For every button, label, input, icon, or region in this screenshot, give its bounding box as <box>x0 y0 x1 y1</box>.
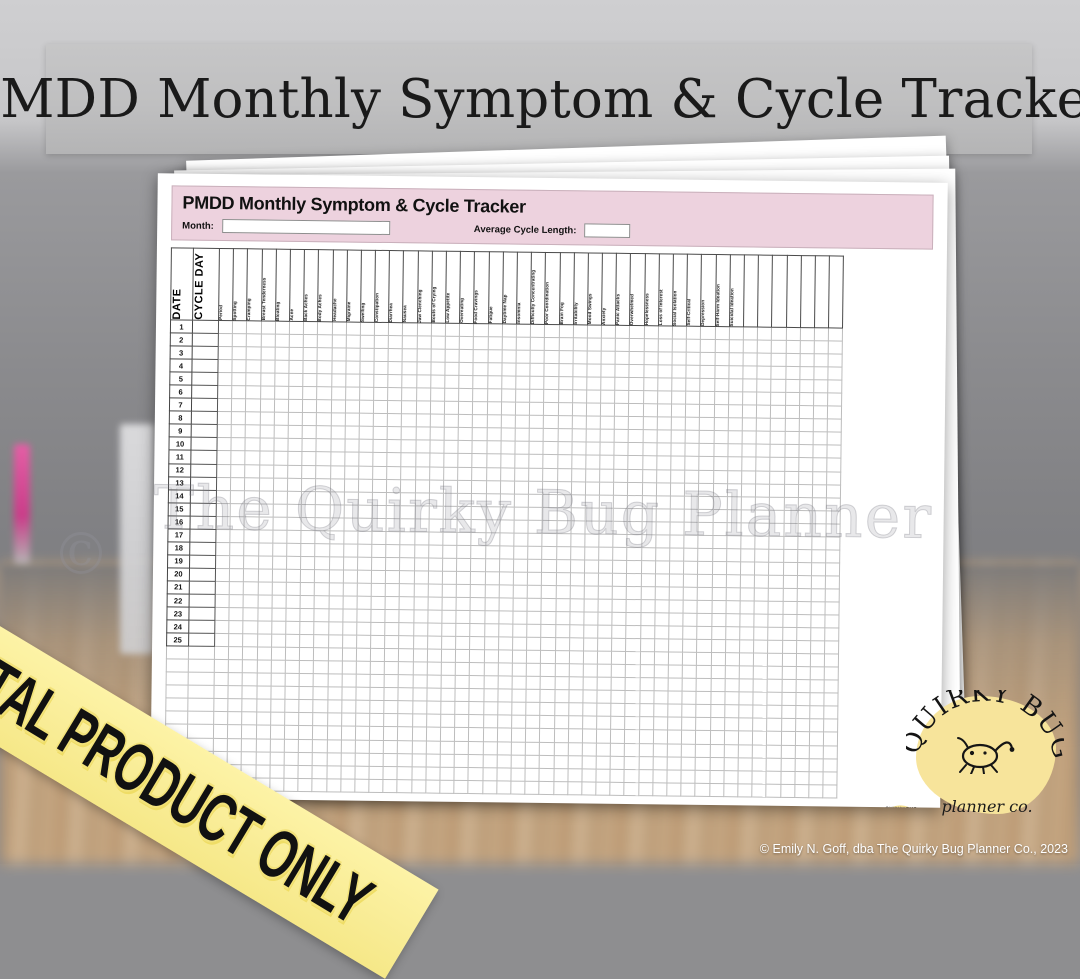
symptom-cell[interactable] <box>569 625 583 638</box>
symptom-cell[interactable] <box>585 482 599 495</box>
symptom-cell[interactable] <box>530 363 544 376</box>
symptom-cell[interactable] <box>739 705 753 718</box>
symptom-cell[interactable] <box>587 325 601 338</box>
symptom-cell[interactable] <box>783 575 797 588</box>
symptom-cell[interactable] <box>341 753 355 766</box>
symptom-cell[interactable] <box>401 453 415 466</box>
symptom-cell[interactable] <box>487 389 501 402</box>
symptom-cell[interactable] <box>784 497 798 510</box>
symptom-cell[interactable] <box>388 362 402 375</box>
symptom-cell[interactable] <box>360 348 374 361</box>
symptom-cell[interactable] <box>428 558 442 571</box>
symptom-cell[interactable] <box>469 689 483 702</box>
symptom-cell[interactable] <box>713 444 727 457</box>
symptom-cell[interactable] <box>770 445 784 458</box>
symptom-cell[interactable] <box>441 689 455 702</box>
symptom-cell[interactable] <box>544 377 558 390</box>
symptom-cell[interactable] <box>497 741 511 754</box>
symptom-cell[interactable] <box>568 768 582 781</box>
symptom-cell[interactable] <box>514 533 528 546</box>
symptom-cell[interactable] <box>356 674 370 687</box>
symptom-cell[interactable] <box>515 455 529 468</box>
symptom-cell[interactable] <box>781 758 795 771</box>
symptom-cell[interactable] <box>260 386 274 399</box>
symptom-cell[interactable] <box>755 510 769 523</box>
symptom-cell[interactable] <box>797 615 811 628</box>
symptom-cell[interactable] <box>387 492 401 505</box>
symptom-cell[interactable] <box>303 335 317 348</box>
symptom-cell[interactable] <box>515 415 529 428</box>
symptom-cell[interactable] <box>626 652 640 665</box>
symptom-cell[interactable] <box>825 615 839 628</box>
symptom-cell[interactable] <box>372 531 386 544</box>
symptom-cell[interactable] <box>670 522 684 535</box>
symptom-cell[interactable] <box>500 494 514 507</box>
symptom-cell[interactable] <box>402 414 416 427</box>
symptom-cell[interactable] <box>501 428 515 441</box>
symptom-cell[interactable] <box>823 785 837 798</box>
symptom-cell[interactable] <box>330 465 344 478</box>
symptom-cell[interactable] <box>658 339 672 352</box>
symptom-cell[interactable] <box>583 651 597 664</box>
symptom-cell[interactable] <box>188 712 214 725</box>
symptom-cell[interactable] <box>525 768 539 781</box>
symptom-cell[interactable] <box>370 701 384 714</box>
symptom-cell[interactable] <box>682 718 696 731</box>
symptom-tracker-grid[interactable]: DATECYCLE DAYPeriodSpottingCrampingBreas… <box>164 247 933 799</box>
symptom-cell[interactable] <box>782 654 796 667</box>
symptom-cell[interactable] <box>611 730 625 743</box>
symptom-cell[interactable] <box>472 467 486 480</box>
symptom-cell[interactable] <box>454 754 468 767</box>
symptom-cell[interactable] <box>571 534 585 547</box>
symptom-cell[interactable] <box>725 640 739 653</box>
symptom-cell[interactable] <box>826 524 840 537</box>
cycle-day-cell[interactable] <box>191 398 217 411</box>
symptom-cell[interactable] <box>785 393 799 406</box>
symptom-cell[interactable] <box>314 596 328 609</box>
cycle-day-cell[interactable] <box>191 411 217 424</box>
symptom-cell[interactable] <box>288 400 302 413</box>
symptom-cell[interactable] <box>625 756 639 769</box>
symptom-cell[interactable] <box>288 439 302 452</box>
symptom-cell[interactable] <box>587 364 601 377</box>
symptom-cell[interactable] <box>440 741 454 754</box>
symptom-cell[interactable] <box>426 727 440 740</box>
symptom-cell[interactable] <box>459 363 473 376</box>
symptom-cell[interactable] <box>372 492 386 505</box>
symptom-cell[interactable] <box>613 573 627 586</box>
symptom-cell[interactable] <box>615 404 629 417</box>
symptom-cell[interactable] <box>667 783 681 796</box>
symptom-cell[interactable] <box>327 752 341 765</box>
symptom-cell[interactable] <box>683 652 697 665</box>
symptom-cell[interactable] <box>486 480 500 493</box>
symptom-cell[interactable] <box>317 348 331 361</box>
symptom-cell[interactable] <box>543 468 557 481</box>
symptom-cell[interactable] <box>398 740 412 753</box>
symptom-cell[interactable] <box>230 568 244 581</box>
symptom-cell[interactable] <box>488 337 502 350</box>
symptom-cell[interactable] <box>540 677 554 690</box>
symptom-cell[interactable] <box>330 491 344 504</box>
symptom-cell[interactable] <box>243 621 257 634</box>
symptom-cell[interactable] <box>417 336 431 349</box>
symptom-cell[interactable] <box>216 503 230 516</box>
symptom-cell[interactable] <box>657 443 671 456</box>
symptom-cell[interactable] <box>769 510 783 523</box>
symptom-cell[interactable] <box>541 598 555 611</box>
symptom-cell[interactable] <box>828 367 842 380</box>
symptom-cell[interactable] <box>302 478 316 491</box>
symptom-cell[interactable] <box>356 701 370 714</box>
symptom-cell[interactable] <box>284 765 298 778</box>
symptom-cell[interactable] <box>215 634 229 647</box>
symptom-cell[interactable] <box>359 387 373 400</box>
symptom-cell[interactable] <box>300 595 314 608</box>
symptom-cell[interactable] <box>331 387 345 400</box>
symptom-cell[interactable] <box>724 770 738 783</box>
symptom-cell[interactable] <box>669 561 683 574</box>
symptom-cell[interactable] <box>611 691 625 704</box>
symptom-cell[interactable] <box>701 326 715 339</box>
symptom-cell[interactable] <box>600 469 614 482</box>
symptom-cell[interactable] <box>428 597 442 610</box>
symptom-cell[interactable] <box>628 482 642 495</box>
symptom-cell[interactable] <box>556 520 570 533</box>
symptom-cell[interactable] <box>413 662 427 675</box>
symptom-cell[interactable] <box>272 595 286 608</box>
symptom-cell[interactable] <box>413 688 427 701</box>
symptom-cell[interactable] <box>770 432 784 445</box>
symptom-cell[interactable] <box>299 726 313 739</box>
symptom-cell[interactable] <box>217 451 231 464</box>
symptom-cell[interactable] <box>629 352 643 365</box>
symptom-cell[interactable] <box>639 730 653 743</box>
symptom-cell[interactable] <box>369 740 383 753</box>
symptom-cell[interactable] <box>553 781 567 794</box>
symptom-cell[interactable] <box>497 728 511 741</box>
symptom-cell[interactable] <box>502 337 516 350</box>
symptom-cell[interactable] <box>541 611 555 624</box>
symptom-cell[interactable] <box>270 765 284 778</box>
symptom-cell[interactable] <box>809 745 823 758</box>
symptom-cell[interactable] <box>681 783 695 796</box>
symptom-cell[interactable] <box>643 430 657 443</box>
symptom-cell[interactable] <box>795 758 809 771</box>
symptom-cell[interactable] <box>757 366 771 379</box>
symptom-cell[interactable] <box>798 497 812 510</box>
symptom-cell[interactable] <box>584 625 598 638</box>
symptom-cell[interactable] <box>272 569 286 582</box>
symptom-cell[interactable] <box>261 347 275 360</box>
symptom-cell[interactable] <box>698 587 712 600</box>
symptom-cell[interactable] <box>399 662 413 675</box>
symptom-cell[interactable] <box>316 426 330 439</box>
symptom-cell[interactable] <box>558 416 572 429</box>
symptom-cell[interactable] <box>341 739 355 752</box>
symptom-cell[interactable] <box>554 703 568 716</box>
symptom-cell[interactable] <box>567 781 581 794</box>
symptom-cell[interactable] <box>397 766 411 779</box>
symptom-cell[interactable] <box>715 353 729 366</box>
symptom-cell[interactable] <box>387 440 401 453</box>
symptom-cell[interactable] <box>599 547 613 560</box>
symptom-cell[interactable] <box>540 703 554 716</box>
symptom-cell[interactable] <box>796 680 810 693</box>
symptom-cell[interactable] <box>614 469 628 482</box>
symptom-cell[interactable] <box>555 625 569 638</box>
symptom-cell[interactable] <box>671 470 685 483</box>
symptom-cell[interactable] <box>343 557 357 570</box>
symptom-cell[interactable] <box>431 349 445 362</box>
symptom-cell[interactable] <box>443 493 457 506</box>
symptom-cell[interactable] <box>487 363 501 376</box>
symptom-cell[interactable] <box>314 622 328 635</box>
symptom-cell[interactable] <box>770 497 784 510</box>
symptom-cell[interactable] <box>275 347 289 360</box>
symptom-cell[interactable] <box>715 340 729 353</box>
symptom-cell[interactable] <box>568 742 582 755</box>
symptom-cell[interactable] <box>782 614 796 627</box>
symptom-cell[interactable] <box>754 640 768 653</box>
symptom-cell[interactable] <box>615 364 629 377</box>
symptom-cell[interactable] <box>798 471 812 484</box>
symptom-cell[interactable] <box>800 354 814 367</box>
symptom-cell[interactable] <box>355 714 369 727</box>
symptom-cell[interactable] <box>342 674 356 687</box>
symptom-cell[interactable] <box>712 574 726 587</box>
symptom-cell[interactable] <box>529 442 543 455</box>
symptom-cell[interactable] <box>613 560 627 573</box>
symptom-cell[interactable] <box>726 588 740 601</box>
symptom-cell[interactable] <box>300 609 314 622</box>
symptom-cell[interactable] <box>771 353 785 366</box>
symptom-cell[interactable] <box>644 352 658 365</box>
symptom-cell[interactable] <box>570 573 584 586</box>
symptom-cell[interactable] <box>596 730 610 743</box>
symptom-cell[interactable] <box>357 570 371 583</box>
symptom-cell[interactable] <box>228 725 242 738</box>
symptom-cell[interactable] <box>471 545 485 558</box>
symptom-cell[interactable] <box>516 337 530 350</box>
symptom-cell[interactable] <box>557 494 571 507</box>
symptom-cell[interactable] <box>714 366 728 379</box>
symptom-cell[interactable] <box>726 601 740 614</box>
symptom-cell[interactable] <box>642 495 656 508</box>
symptom-cell[interactable] <box>656 495 670 508</box>
symptom-cell[interactable] <box>232 334 246 347</box>
symptom-cell[interactable] <box>274 386 288 399</box>
symptom-cell[interactable] <box>229 621 243 634</box>
symptom-cell[interactable] <box>727 470 741 483</box>
symptom-cell[interactable] <box>767 732 781 745</box>
symptom-cell[interactable] <box>327 713 341 726</box>
symptom-cell[interactable] <box>757 405 771 418</box>
symptom-cell[interactable] <box>271 686 285 699</box>
symptom-cell[interactable] <box>755 549 769 562</box>
symptom-cell[interactable] <box>656 482 670 495</box>
symptom-cell[interactable] <box>557 468 571 481</box>
symptom-cell[interactable] <box>488 350 502 363</box>
symptom-cell[interactable] <box>371 596 385 609</box>
cycle-day-cell[interactable] <box>190 555 216 568</box>
symptom-cell[interactable] <box>710 757 724 770</box>
symptom-cell[interactable] <box>455 663 469 676</box>
column-header-blank-5[interactable] <box>800 256 815 328</box>
symptom-cell[interactable] <box>527 572 541 585</box>
symptom-cell[interactable] <box>767 692 781 705</box>
symptom-cell[interactable] <box>217 412 231 425</box>
symptom-cell[interactable] <box>304 321 318 334</box>
symptom-cell[interactable] <box>670 535 684 548</box>
symptom-cell[interactable] <box>683 639 697 652</box>
symptom-cell[interactable] <box>440 728 454 741</box>
symptom-cell[interactable] <box>387 466 401 479</box>
symptom-cell[interactable] <box>540 729 554 742</box>
symptom-cell[interactable] <box>356 661 370 674</box>
cycle-day-cell[interactable] <box>192 346 218 359</box>
symptom-cell[interactable] <box>797 536 811 549</box>
symptom-cell[interactable] <box>724 783 738 796</box>
symptom-cell[interactable] <box>511 755 525 768</box>
symptom-cell[interactable] <box>754 627 768 640</box>
symptom-cell[interactable] <box>615 351 629 364</box>
symptom-cell[interactable] <box>329 531 343 544</box>
symptom-cell[interactable] <box>658 378 672 391</box>
symptom-cell[interactable] <box>217 425 231 438</box>
symptom-cell[interactable] <box>542 520 556 533</box>
symptom-cell[interactable] <box>287 478 301 491</box>
symptom-cell[interactable] <box>572 377 586 390</box>
symptom-cell[interactable] <box>727 496 741 509</box>
symptom-cell[interactable] <box>556 572 570 585</box>
symptom-cell[interactable] <box>639 743 653 756</box>
symptom-cell[interactable] <box>626 599 640 612</box>
symptom-cell[interactable] <box>416 388 430 401</box>
symptom-cell[interactable] <box>486 493 500 506</box>
symptom-cell[interactable] <box>572 429 586 442</box>
symptom-cell[interactable] <box>397 779 411 792</box>
symptom-cell[interactable] <box>653 769 667 782</box>
symptom-cell[interactable] <box>769 549 783 562</box>
symptom-cell[interactable] <box>328 609 342 622</box>
symptom-cell[interactable] <box>216 555 230 568</box>
symptom-cell[interactable] <box>627 521 641 534</box>
symptom-cell[interactable] <box>289 347 303 360</box>
symptom-cell[interactable] <box>243 608 257 621</box>
symptom-cell[interactable] <box>399 623 413 636</box>
symptom-cell[interactable] <box>232 360 246 373</box>
symptom-cell[interactable] <box>783 523 797 536</box>
symptom-cell[interactable] <box>469 715 483 728</box>
symptom-cell[interactable] <box>696 718 710 731</box>
symptom-cell[interactable] <box>473 376 487 389</box>
symptom-cell[interactable] <box>430 427 444 440</box>
symptom-cell[interactable] <box>216 516 230 529</box>
symptom-cell[interactable] <box>313 713 327 726</box>
symptom-cell[interactable] <box>555 638 569 651</box>
symptom-cell[interactable] <box>412 714 426 727</box>
symptom-cell[interactable] <box>600 456 614 469</box>
symptom-cell[interactable] <box>569 664 583 677</box>
symptom-cell[interactable] <box>315 556 329 569</box>
symptom-cell[interactable] <box>511 768 525 781</box>
symptom-cell[interactable] <box>273 491 287 504</box>
symptom-cell[interactable] <box>528 494 542 507</box>
symptom-cell[interactable] <box>699 483 713 496</box>
symptom-cell[interactable] <box>242 673 256 686</box>
symptom-cell[interactable] <box>545 337 559 350</box>
symptom-cell[interactable] <box>728 392 742 405</box>
symptom-cell[interactable] <box>738 770 752 783</box>
symptom-cell[interactable] <box>513 598 527 611</box>
symptom-cell[interactable] <box>244 569 258 582</box>
symptom-cell[interactable] <box>412 727 426 740</box>
symptom-cell[interactable] <box>502 363 516 376</box>
symptom-cell[interactable] <box>343 583 357 596</box>
symptom-cell[interactable] <box>274 452 288 465</box>
symptom-cell[interactable] <box>443 480 457 493</box>
symptom-cell[interactable] <box>782 680 796 693</box>
symptom-cell[interactable] <box>628 443 642 456</box>
symptom-cell[interactable] <box>826 484 840 497</box>
symptom-cell[interactable] <box>713 522 727 535</box>
symptom-cell[interactable] <box>414 532 428 545</box>
symptom-cell[interactable] <box>724 718 738 731</box>
symptom-cell[interactable] <box>385 610 399 623</box>
symptom-cell[interactable] <box>796 628 810 641</box>
symptom-cell[interactable] <box>638 782 652 795</box>
symptom-cell[interactable] <box>669 587 683 600</box>
symptom-cell[interactable] <box>501 389 515 402</box>
symptom-cell[interactable] <box>327 687 341 700</box>
symptom-cell[interactable] <box>314 635 328 648</box>
symptom-cell[interactable] <box>743 327 757 340</box>
symptom-cell[interactable] <box>470 624 484 637</box>
symptom-cell[interactable] <box>443 532 457 545</box>
symptom-cell[interactable] <box>516 350 530 363</box>
symptom-cell[interactable] <box>811 589 825 602</box>
symptom-cell[interactable] <box>416 414 430 427</box>
symptom-cell[interactable] <box>445 323 459 336</box>
symptom-cell[interactable] <box>529 455 543 468</box>
symptom-cell[interactable] <box>656 535 670 548</box>
symptom-cell[interactable] <box>657 404 671 417</box>
symptom-cell[interactable] <box>402 362 416 375</box>
symptom-cell[interactable] <box>329 557 343 570</box>
symptom-cell[interactable] <box>558 364 572 377</box>
symptom-cell[interactable] <box>402 375 416 388</box>
symptom-cell[interactable] <box>753 731 767 744</box>
symptom-cell[interactable] <box>824 667 838 680</box>
symptom-cell[interactable] <box>487 402 501 415</box>
symptom-cell[interactable] <box>754 614 768 627</box>
symptom-cell[interactable] <box>573 325 587 338</box>
symptom-cell[interactable] <box>611 704 625 717</box>
symptom-cell[interactable] <box>554 729 568 742</box>
symptom-cell[interactable] <box>573 364 587 377</box>
symptom-cell[interactable] <box>555 677 569 690</box>
symptom-cell[interactable] <box>711 627 725 640</box>
symptom-cell[interactable] <box>625 743 639 756</box>
symptom-cell[interactable] <box>374 348 388 361</box>
symptom-cell[interactable] <box>610 769 624 782</box>
symptom-cell[interactable] <box>528 559 542 572</box>
symptom-cell[interactable] <box>657 456 671 469</box>
symptom-cell[interactable] <box>330 478 344 491</box>
symptom-cell[interactable] <box>684 561 698 574</box>
